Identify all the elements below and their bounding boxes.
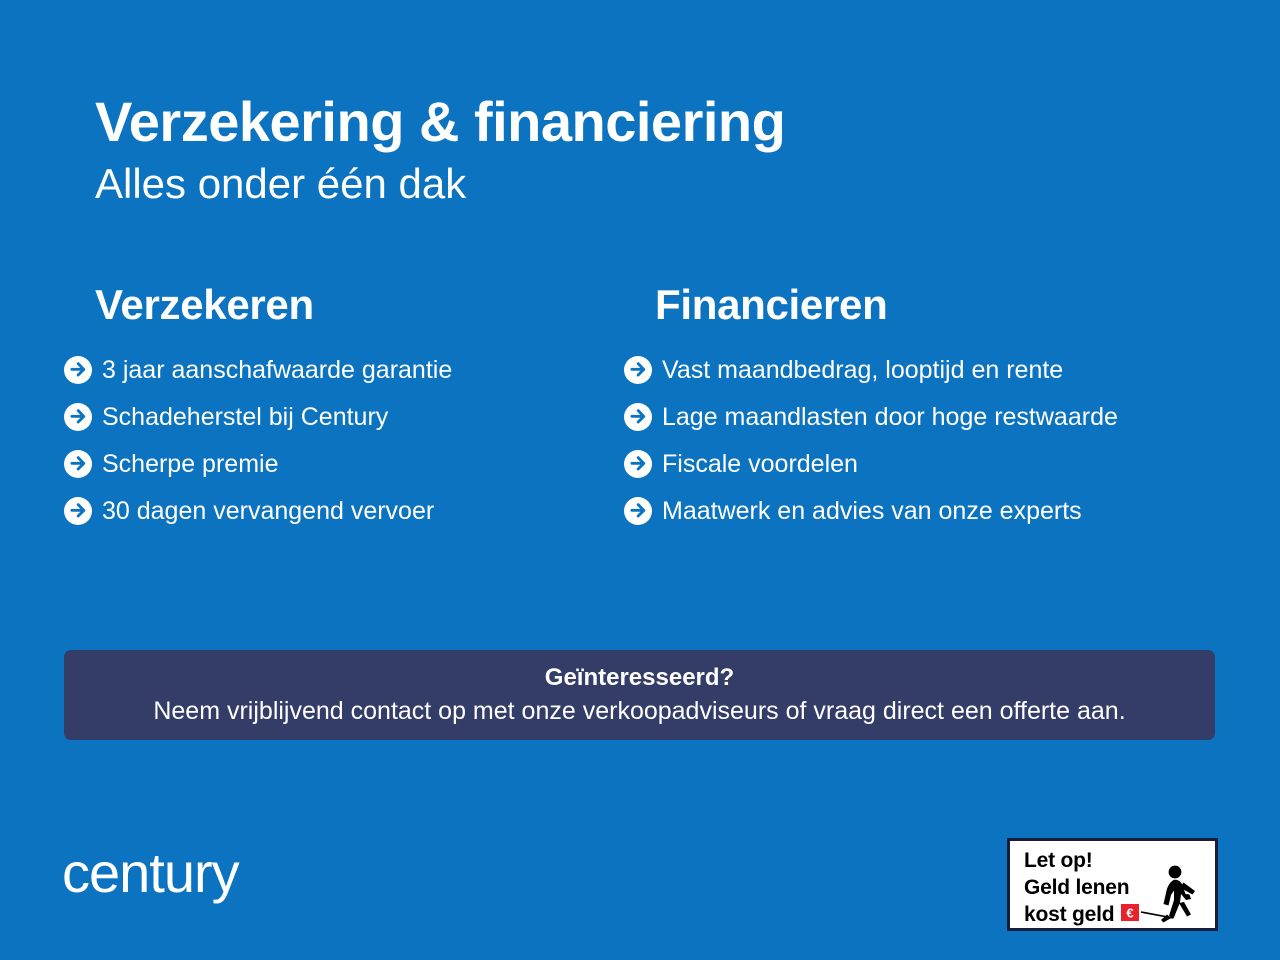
column-financieren: Financieren Vast maandbedrag, looptijd e… [0,282,660,534]
brand-logo: century [62,845,239,901]
warning-badge-inner: Let op! Geld lenen kost geld € [1010,841,1215,928]
list-item-label: Maatwerk en advies van onze experts [662,496,1082,526]
warning-badge-text: Let op! Geld lenen kost geld [1024,847,1129,928]
promo-slide: Verzekering & financiering Alles onder é… [0,0,1280,960]
arrow-right-circle-icon [624,403,652,431]
arrow-right-circle-icon [624,356,652,384]
warning-badge-line-1: Let op! [1024,847,1129,874]
page-subtitle: Alles onder één dak [95,160,1195,208]
list-item-label: Lage maandlasten door hoge restwaarde [662,402,1118,432]
column-heading-financieren: Financieren [655,282,660,328]
arrow-right-circle-icon [624,497,652,525]
warning-badge-line-2: Geld lenen [1024,874,1129,901]
walking-person-pulling-euro-icon: € [1117,864,1209,926]
arrow-right-circle-icon [624,450,652,478]
list-item-label: Fiscale voordelen [662,449,858,479]
feature-list-financieren: Vast maandbedrag, looptijd en rente Lage… [624,346,660,534]
svg-text:€: € [1126,906,1133,921]
list-item: Vast maandbedrag, looptijd en rente [624,346,660,393]
list-item: Lage maandlasten door hoge restwaarde [624,393,660,440]
cta-text: Neem vrijblijvend contact op met onze ve… [153,696,1125,727]
page-title: Verzekering & financiering [95,92,1195,152]
cta-title: Geïnteresseerd? [545,663,734,693]
list-item: Maatwerk en advies van onze experts [624,487,660,534]
header: Verzekering & financiering Alles onder é… [95,92,1195,209]
warning-badge: Let op! Geld lenen kost geld € [1007,838,1218,931]
list-item: Fiscale voordelen [624,440,660,487]
cta-banner[interactable]: Geïnteresseerd? Neem vrijblijvend contac… [64,650,1215,740]
feature-columns: Verzekeren 3 jaar aanschafwaarde garanti… [0,282,1280,534]
warning-badge-line-3: kost geld [1024,901,1129,928]
list-item-label: Vast maandbedrag, looptijd en rente [662,355,1063,385]
